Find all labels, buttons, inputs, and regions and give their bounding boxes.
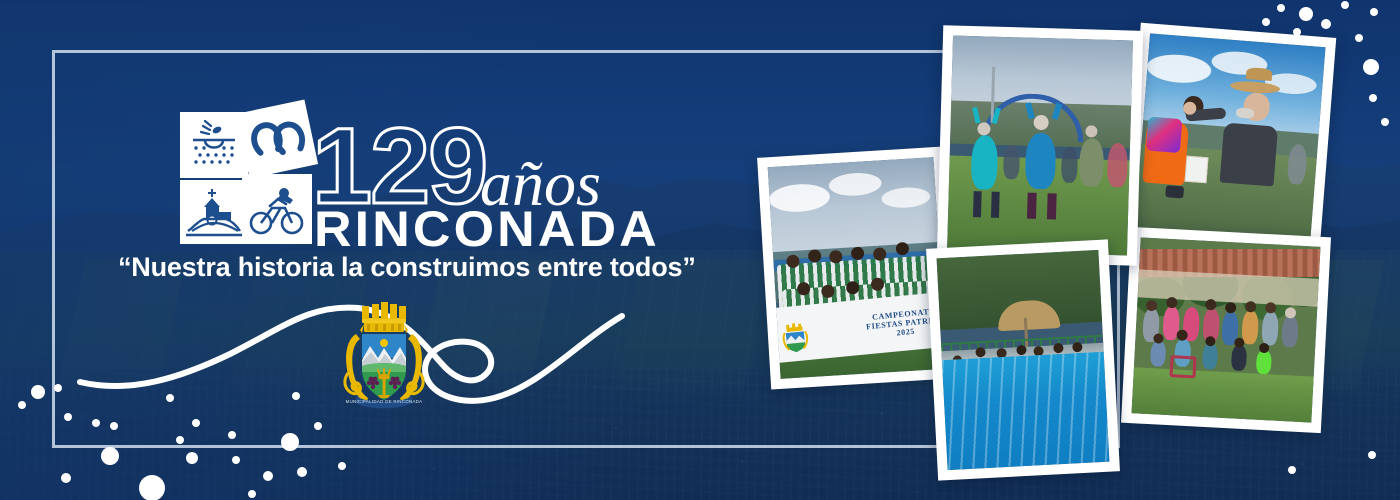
anniversary-banner: 129 años RINCONADA “Nuestra historia la …	[0, 0, 1400, 500]
photo-gimnasia-adulto-mayor	[937, 25, 1143, 265]
church-hill-icon	[180, 180, 248, 244]
rinconada-identity-logo	[180, 112, 312, 244]
photo-piscina-municipal	[926, 239, 1120, 480]
photo-premiacion-corrida	[1124, 23, 1337, 256]
mini-crest-icon	[781, 322, 810, 354]
tagline: “Nuestra historia la construimos entre t…	[118, 252, 696, 283]
commune-name: RINCONADA	[314, 204, 660, 254]
photo-encuentro-comunitario	[1121, 227, 1331, 433]
escudo-municipalidad-de-rinconada: MUNICIPALIDAD DE RINCONADA	[338, 300, 430, 412]
wordmark: 129 años RINCONADA	[312, 118, 732, 248]
pool-water	[942, 352, 1110, 471]
cyclist-icon	[242, 174, 312, 244]
crest-ribbon-text: MUNICIPALIDAD DE RINCONADA	[346, 399, 423, 404]
horseshoe-icon	[236, 99, 318, 178]
